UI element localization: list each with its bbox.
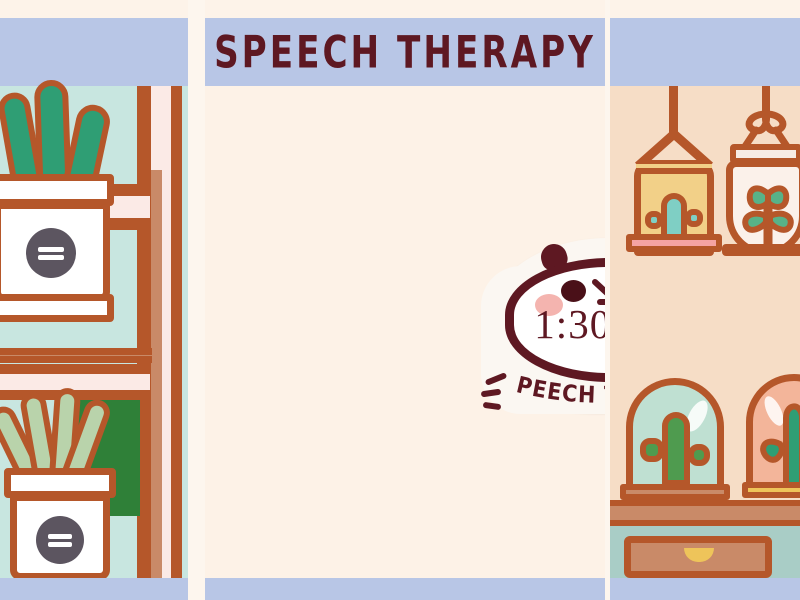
jar-shelf-bar xyxy=(722,244,800,256)
dome-green-cactus-icon xyxy=(662,412,690,486)
pot-badge-top-icon xyxy=(26,228,76,278)
speech-therapy-sticker[interactable]: 1:30 PM SPEECH THERAPY xyxy=(477,230,605,420)
panel-divider-left xyxy=(188,0,205,600)
page-title: SPEECH THERAPY xyxy=(214,26,596,78)
cat-eye-left-icon xyxy=(561,280,586,302)
shelf-board xyxy=(0,348,152,363)
amber-terrarium-lip xyxy=(636,164,712,174)
left-top-band xyxy=(0,18,188,86)
right-panel xyxy=(610,0,800,600)
amber-cactus-arm-right xyxy=(685,209,703,227)
pot-base-top xyxy=(0,294,114,322)
shelf-pale-bar xyxy=(0,372,150,392)
right-panel-artwork xyxy=(610,86,800,578)
left-panel xyxy=(0,0,188,600)
left-panel-artwork xyxy=(0,86,188,578)
left-top-cream-strip xyxy=(0,0,188,18)
sticker-caption-text: SPEECH THERAPY xyxy=(503,370,605,409)
dome-green-cactus-arm-right xyxy=(688,444,710,466)
pot-badge-bottom-icon xyxy=(36,516,84,564)
header-band: SPEECH THERAPY xyxy=(205,18,605,86)
poster-canvas: SPEECH THERAPY 1:30 PM xyxy=(0,0,800,600)
right-bottom-band xyxy=(610,578,800,600)
sticker-time-text: 1:30 PM xyxy=(505,300,605,348)
left-bottom-band xyxy=(0,578,188,600)
right-top-cream-strip xyxy=(610,0,800,18)
window-post-shadow xyxy=(151,170,162,578)
dome-peach-base xyxy=(742,482,800,498)
sparkle-dash-left-3 xyxy=(483,402,502,410)
shelf-edge-top xyxy=(0,364,151,374)
display-shelf xyxy=(610,500,800,526)
center-bottom-band xyxy=(205,578,605,600)
amber-terrarium-pink-base xyxy=(626,234,722,252)
dome-green-cactus-arm-left xyxy=(640,438,664,462)
center-top-cream-strip xyxy=(205,0,605,18)
dome-peach-plant-icon xyxy=(756,392,800,496)
right-top-band xyxy=(610,18,800,86)
amber-cactus-arm-left xyxy=(645,211,663,229)
sticker-caption: SPEECH THERAPY xyxy=(503,370,605,416)
center-panel: SPEECH THERAPY 1:30 PM xyxy=(205,0,605,600)
window-frame-vertical-outer xyxy=(171,86,182,578)
jar-plant-icon xyxy=(732,178,800,254)
